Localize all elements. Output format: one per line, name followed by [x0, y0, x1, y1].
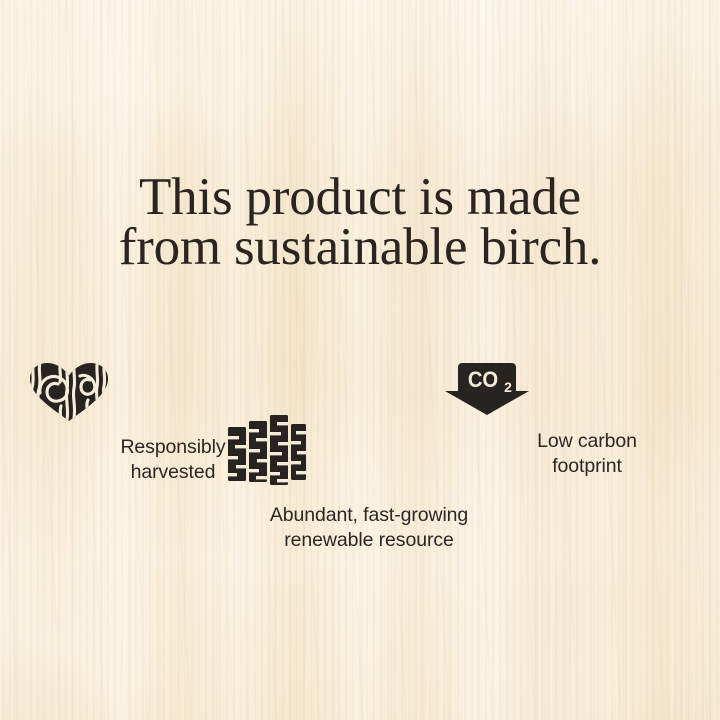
- wood-vignette: [0, 0, 720, 720]
- wood-grain-heart-icon: [28, 362, 318, 422]
- co2-down-arrow-icon: CO 2: [442, 362, 720, 416]
- co2-subscript: 2: [504, 379, 512, 395]
- feature-low-carbon-footprint: CO 2 Low carbon footprint: [442, 362, 720, 479]
- feature-caption: Abundant, fast-growing renewable resourc…: [224, 503, 514, 553]
- page-title: This product is made from sustainable bi…: [0, 172, 720, 272]
- co2-label: CO: [468, 368, 498, 392]
- feature-caption: Low carbon footprint: [442, 429, 720, 479]
- birch-sustainability-poster: This product is made from sustainable bi…: [0, 0, 720, 720]
